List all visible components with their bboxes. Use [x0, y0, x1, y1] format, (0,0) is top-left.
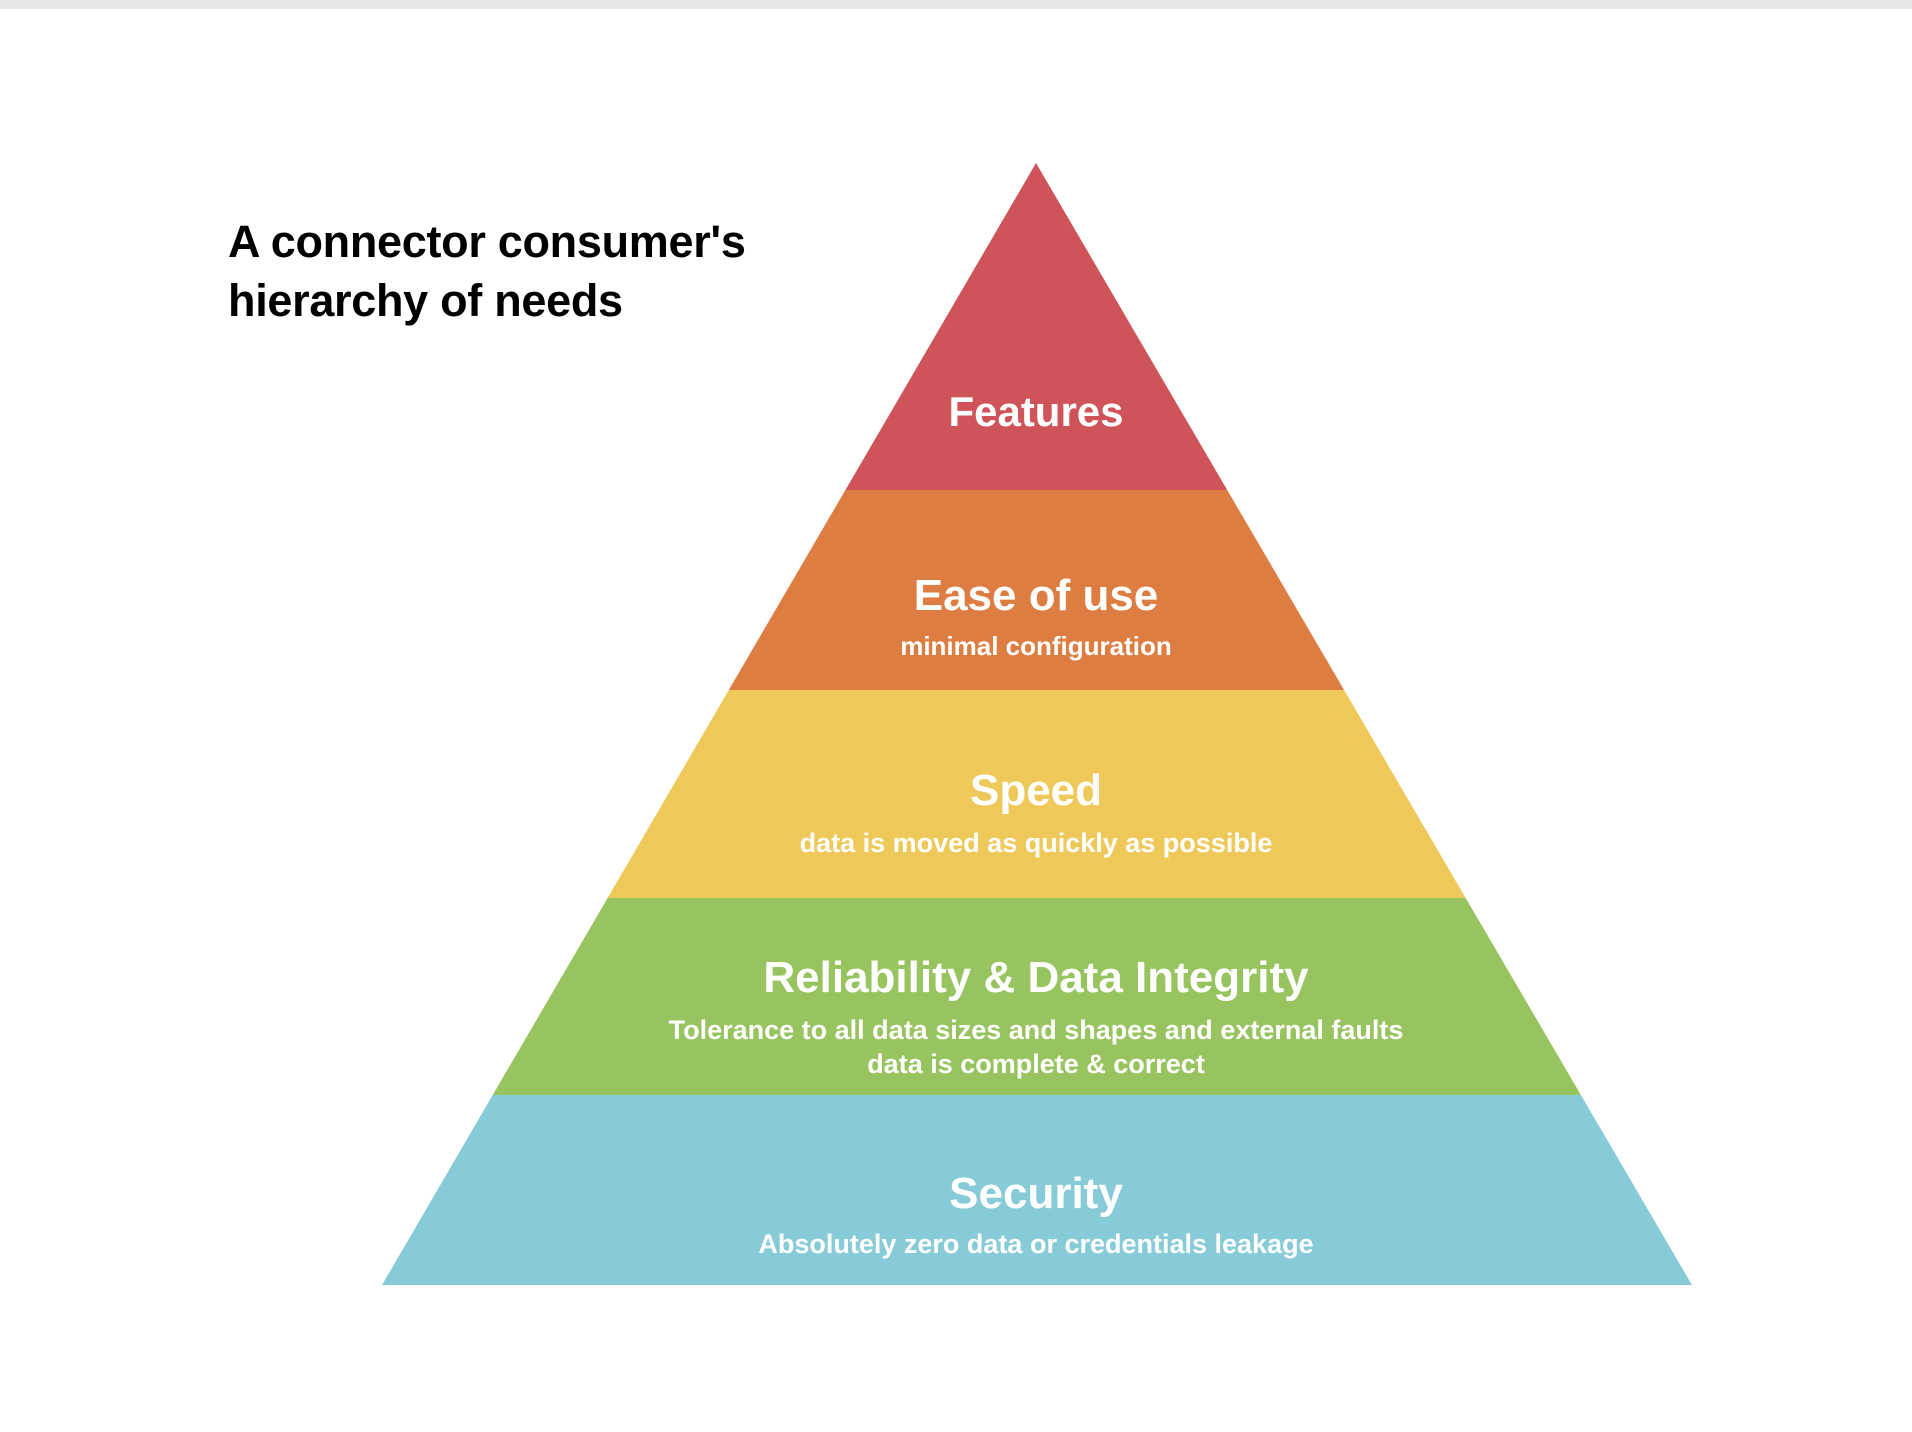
pyramid-tier-speed[interactable]: Speed data is moved as quickly as possib… [608, 690, 1466, 898]
tier-sublabel-speed-0: data is moved as quickly as possible [800, 828, 1273, 858]
pyramid-diagram: Features Ease of use minimal configurati… [0, 0, 1912, 1432]
pyramid-tier-reliability[interactable]: Reliability & Data Integrity Tolerance t… [493, 898, 1581, 1095]
tier-sublabel-security-0: Absolutely zero data or credentials leak… [758, 1229, 1313, 1259]
tier-sublabel-reliability-0: Tolerance to all data sizes and shapes a… [669, 1015, 1404, 1045]
tier-label-ease-of-use: Ease of use [914, 571, 1159, 620]
pyramid-tier-security[interactable]: Security Absolutely zero data or credent… [382, 1095, 1692, 1285]
tier-shape-features [845, 163, 1227, 490]
tier-label-reliability: Reliability & Data Integrity [763, 953, 1309, 1002]
tier-label-features: Features [948, 388, 1123, 435]
pyramid-tier-features[interactable]: Features [845, 163, 1227, 490]
slide-canvas: A connector consumer's hierarchy of need… [0, 0, 1912, 1432]
tier-sublabel-reliability-1: data is complete & correct [867, 1049, 1205, 1079]
tier-sublabel-ease-of-use-0: minimal configuration [900, 631, 1172, 661]
pyramid-tier-ease-of-use[interactable]: Ease of use minimal configuration [729, 490, 1344, 690]
tier-label-security: Security [949, 1169, 1123, 1218]
tier-label-speed: Speed [970, 766, 1102, 815]
